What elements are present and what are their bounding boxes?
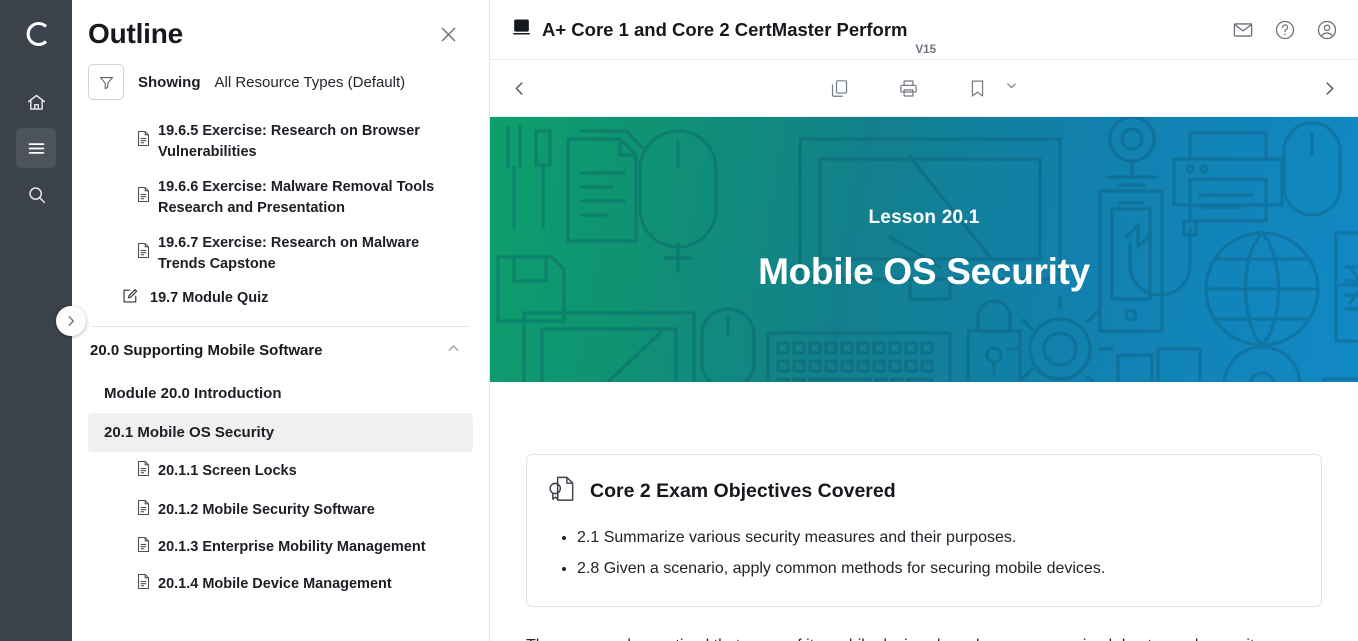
- document-icon: [136, 460, 151, 484]
- list-item-label: 19.7 Module Quiz: [150, 290, 268, 306]
- exam-objectives-card: Core 2 Exam Objectives Covered 2.1 Summa…: [526, 454, 1322, 607]
- left-icon-rail: [0, 0, 72, 641]
- document-icon: [136, 499, 151, 523]
- list-item[interactable]: 20.1.2 Mobile Security Software: [88, 491, 473, 530]
- document-icon: [136, 242, 151, 266]
- outline-item-label: Module 20.0 Introduction: [104, 385, 282, 402]
- toolbar-actions: [548, 78, 1300, 99]
- exam-objectives-header: Core 2 Exam Objectives Covered: [547, 473, 1299, 509]
- content-scrollbar-track[interactable]: [1352, 117, 1358, 641]
- filter-row: Showing All Resource Types (Default): [72, 56, 489, 114]
- outline-item-lesson-20-1[interactable]: 20.1 Mobile OS Security: [88, 413, 473, 452]
- header-icon-group: [1232, 19, 1338, 41]
- bookmark-icon[interactable]: [967, 78, 988, 99]
- course-title: A+ Core 1 and Core 2 CertMaster Perform: [542, 19, 908, 41]
- certificate-document-icon: [547, 473, 578, 509]
- quiz-pencil-icon: [122, 288, 138, 308]
- outline-header: Outline: [72, 0, 489, 56]
- main-content: A+ Core 1 and Core 2 CertMaster Perform …: [490, 0, 1358, 641]
- chevron-down-icon[interactable]: [1004, 78, 1019, 98]
- content-toolbar: [490, 60, 1358, 117]
- hero-lesson-title: Mobile OS Security: [758, 251, 1090, 293]
- list-item[interactable]: 19.6.5 Exercise: Research on Browser Vul…: [88, 114, 473, 170]
- sidebar-item-home[interactable]: [16, 82, 56, 122]
- outline-scroll-area: 19.6.5 Exercise: Research on Browser Vul…: [72, 114, 489, 641]
- hero-lesson-label: Lesson 20.1: [869, 207, 980, 229]
- lesson-body: Core 2 Exam Objectives Covered 2.1 Summa…: [490, 382, 1358, 641]
- document-icon: [136, 130, 151, 154]
- exam-objectives-list: 2.1 Summarize various security measures …: [577, 522, 1299, 584]
- document-icon: [136, 186, 151, 210]
- course-version-badge: V15: [916, 44, 936, 59]
- list-item: 2.1 Summarize various security measures …: [577, 522, 1299, 553]
- page-title: Outline: [88, 18, 183, 50]
- sidebar-item-search[interactable]: [16, 174, 56, 214]
- lesson-content: Lesson 20.1 Mobile OS Security: [490, 117, 1358, 641]
- list-item-label: 19.6.6 Exercise: Malware Removal Tools R…: [158, 177, 465, 219]
- print-icon[interactable]: [898, 78, 919, 99]
- rail-collapse-button[interactable]: [56, 306, 86, 336]
- outline-module-label: 20.0 Supporting Mobile Software: [90, 342, 323, 359]
- list-item[interactable]: 19.6.6 Exercise: Malware Removal Tools R…: [88, 170, 473, 226]
- list-item[interactable]: 20.1.3 Enterprise Mobility Management: [88, 530, 473, 565]
- outline-module-header[interactable]: 20.0 Supporting Mobile Software: [88, 327, 473, 374]
- outline-item-module-intro[interactable]: Module 20.0 Introduction: [88, 374, 473, 413]
- list-item-label: 19.6.5 Exercise: Research on Browser Vul…: [158, 121, 465, 163]
- list-item-label: 20.1.2 Mobile Security Software: [158, 500, 375, 521]
- close-icon[interactable]: [433, 19, 463, 49]
- list-item-label: 20.1.4 Mobile Device Management: [158, 574, 392, 595]
- filter-funnel-icon[interactable]: [88, 64, 124, 100]
- sidebar-item-outline[interactable]: [16, 128, 56, 168]
- showing-label: Showing: [138, 74, 201, 91]
- list-item[interactable]: 20.1.4 Mobile Device Management: [88, 565, 473, 604]
- list-item-module-quiz[interactable]: 19.7 Module Quiz: [88, 282, 473, 314]
- document-icon: [136, 536, 151, 560]
- outline-tree: 19.6.5 Exercise: Research on Browser Vul…: [72, 114, 489, 604]
- list-item: 2.8 Given a scenario, apply common metho…: [577, 553, 1299, 584]
- chevron-up-icon[interactable]: [446, 341, 461, 360]
- showing-value[interactable]: All Resource Types (Default): [215, 74, 406, 91]
- next-page-button[interactable]: [1300, 79, 1358, 98]
- outline-panel: Outline Showing All Resource Types (Defa…: [72, 0, 490, 641]
- lesson-paragraph: The company has noticed that some of its…: [526, 633, 1322, 641]
- course-book-icon: [512, 18, 531, 42]
- prev-page-button[interactable]: [490, 79, 548, 98]
- document-icon: [136, 573, 151, 597]
- course-header: A+ Core 1 and Core 2 CertMaster Perform …: [490, 0, 1358, 60]
- exam-objectives-title: Core 2 Exam Objectives Covered: [590, 480, 896, 503]
- list-item-label: 20.1.3 Enterprise Mobility Management: [158, 537, 426, 558]
- hero-tech-pattern: [490, 117, 1358, 382]
- outline-item-label: 20.1 Mobile OS Security: [104, 424, 274, 441]
- mail-icon[interactable]: [1232, 19, 1254, 41]
- outline-scrollbar-track[interactable]: [479, 114, 487, 641]
- help-circle-icon[interactable]: [1274, 19, 1296, 41]
- account-circle-icon[interactable]: [1316, 19, 1338, 41]
- list-item[interactable]: 19.6.7 Exercise: Research on Malware Tre…: [88, 226, 473, 282]
- list-item[interactable]: 20.1.1 Screen Locks: [88, 452, 473, 491]
- comptia-c-logo-icon[interactable]: [16, 14, 56, 54]
- lesson-hero-banner: Lesson 20.1 Mobile OS Security: [490, 117, 1358, 382]
- copy-icon[interactable]: [829, 78, 850, 99]
- list-item-label: 19.6.7 Exercise: Research on Malware Tre…: [158, 233, 465, 275]
- app-root: Outline Showing All Resource Types (Defa…: [0, 0, 1358, 641]
- list-item-label: 20.1.1 Screen Locks: [158, 461, 297, 482]
